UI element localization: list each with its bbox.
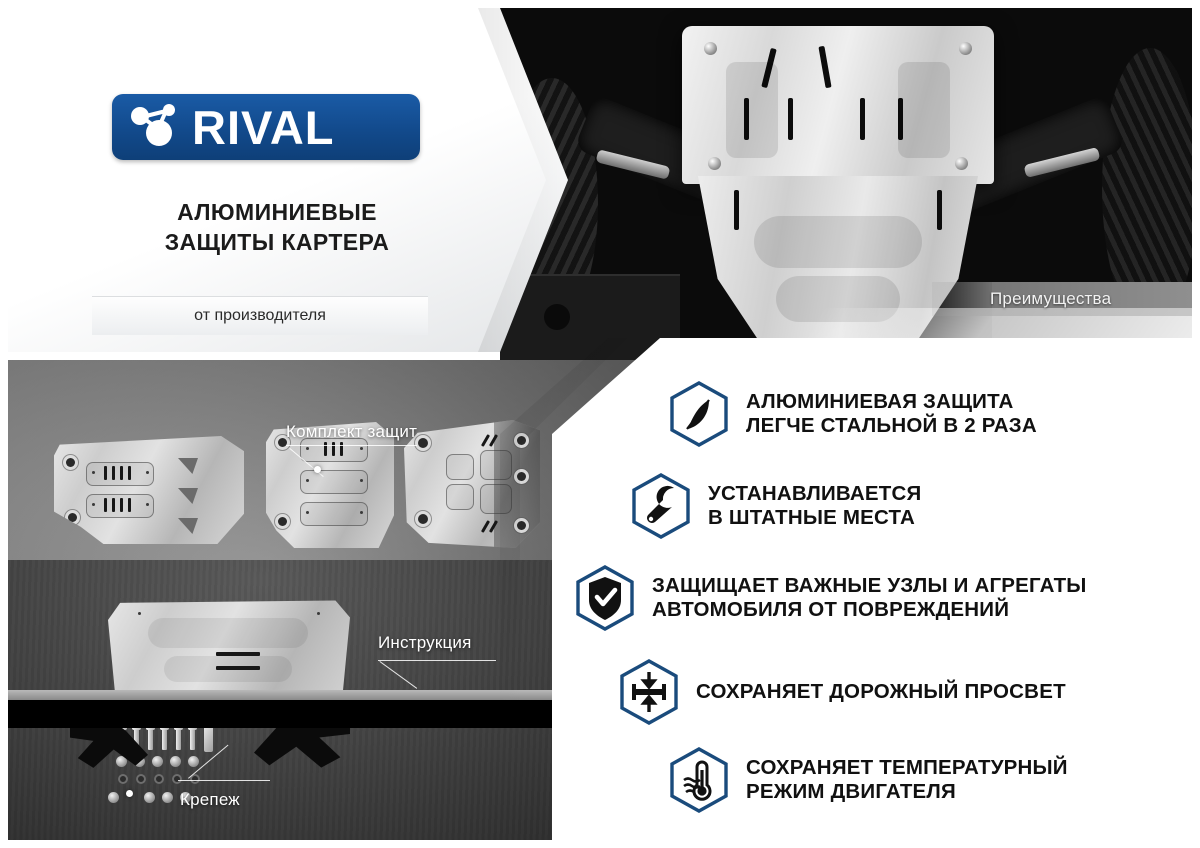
thermometer-icon xyxy=(668,746,730,814)
feature-1-line2: ЛЕГЧЕ СТАЛЬНОЙ В 2 РАЗА xyxy=(746,414,1037,438)
feature-3-line2: АВТОМОБИЛЯ ОТ ПОВРЕЖДЕНИЙ xyxy=(652,598,1087,622)
subtitle-text: от производителя xyxy=(194,307,326,325)
shield-check-icon xyxy=(574,564,636,632)
feature-3-text: ЗАЩИЩАЕТ ВАЖНЫЕ УЗЛЫ И АГРЕГАТЫ АВТОМОБИ… xyxy=(652,574,1087,622)
feature-row-2: УСТАНАВЛИВАЕТСЯ В ШТАТНЫЕ МЕСТА xyxy=(630,472,921,540)
callout-instruction: Инструкция xyxy=(378,633,472,653)
wrench-icon xyxy=(630,472,692,540)
feature-5-line1: СОХРАНЯЕТ ТЕМПЕРАТУРНЫЙ xyxy=(746,756,1068,780)
feature-row-5: СОХРАНЯЕТ ТЕМПЕРАТУРНЫЙ РЕЖИМ ДВИГАТЕЛЯ xyxy=(668,746,1068,814)
feature-row-3: ЗАЩИЩАЕТ ВАЖНЫЕ УЗЛЫ И АГРЕГАТЫ АВТОМОБИ… xyxy=(574,564,1087,632)
promo-banner: Преимущества RIVAL АЛЮМИНИЕВЫЕ ЗАЩИТЫ КА… xyxy=(0,0,1200,848)
rival-logo: RIVAL xyxy=(112,94,420,160)
floor-shadow-bar xyxy=(8,698,568,728)
feature-4-line1: СОХРАНЯЕТ ДОРОЖНЫЙ ПРОСВЕТ xyxy=(696,680,1066,704)
page-title-line2: ЗАЩИТЫ КАРТЕРА xyxy=(112,228,442,258)
feature-1-line1: АЛЮМИНИЕВАЯ ЗАЩИТА xyxy=(746,390,1037,414)
feature-row-4: СОХРАНЯЕТ ДОРОЖНЫЙ ПРОСВЕТ xyxy=(618,658,1066,726)
undercarriage-photo: Преимущества xyxy=(500,8,1192,360)
callout-fasteners: Крепеж xyxy=(180,790,240,810)
feature-2-line1: УСТАНАВЛИВАЕТСЯ xyxy=(708,482,921,506)
callout-kit-dot xyxy=(314,466,321,473)
molecule-icon xyxy=(126,99,190,155)
feature-2-line2: В ШТАТНЫЕ МЕСТА xyxy=(708,506,921,530)
page-title-line1: АЛЮМИНИЕВЫЕ xyxy=(112,198,442,228)
callout-kit: Комплект защит xyxy=(286,422,417,446)
callout-fasteners-underline xyxy=(178,780,270,781)
feature-5-line2: РЕЖИМ ДВИГАТЕЛЯ xyxy=(746,780,1068,804)
feature-5-text: СОХРАНЯЕТ ТЕМПЕРАТУРНЫЙ РЕЖИМ ДВИГАТЕЛЯ xyxy=(746,756,1068,804)
page-title: АЛЮМИНИЕВЫЕ ЗАЩИТЫ КАРТЕРА xyxy=(112,198,442,258)
banner-stage: Преимущества RIVAL АЛЮМИНИЕВЫЕ ЗАЩИТЫ КА… xyxy=(8,8,1192,840)
advantages-label: Преимущества xyxy=(932,289,1111,309)
subtitle-bar: от производителя xyxy=(92,296,428,335)
feature-4-text: СОХРАНЯЕТ ДОРОЖНЫЙ ПРОСВЕТ xyxy=(696,680,1066,704)
feather-icon xyxy=(668,380,730,448)
callout-instruction-underline xyxy=(378,660,496,661)
advantages-band: Преимущества xyxy=(932,282,1192,316)
feature-1-text: АЛЮМИНИЕВАЯ ЗАЩИТА ЛЕГЧЕ СТАЛЬНОЙ В 2 РА… xyxy=(746,390,1037,438)
fasteners-callout-dot xyxy=(126,790,133,797)
ground-clearance-icon xyxy=(618,658,680,726)
feature-3-line1: ЗАЩИЩАЕТ ВАЖНЫЕ УЗЛЫ И АГРЕГАТЫ xyxy=(652,574,1087,598)
feature-2-text: УСТАНАВЛИВАЕТСЯ В ШТАТНЫЕ МЕСТА xyxy=(708,482,921,530)
installed-skid-plate-upper xyxy=(682,26,994,184)
feature-row-1: АЛЮМИНИЕВАЯ ЗАЩИТА ЛЕГЧЕ СТАЛЬНОЙ В 2 РА… xyxy=(668,380,1037,448)
logo-wordmark: RIVAL xyxy=(192,104,335,151)
skid-plate-1 xyxy=(54,436,244,544)
